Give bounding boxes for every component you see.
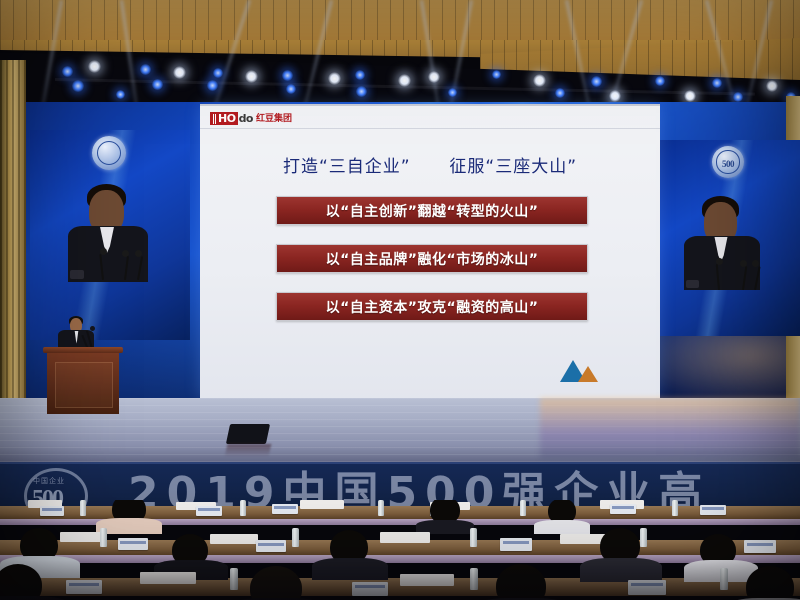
slide-bullet-text-1: 以“自主创新”翻越“转型的火山” [326,201,539,221]
slide-bullet-text-3: 以“自主资本”攻克“融资的高山” [326,297,539,317]
name-card [118,538,148,550]
name-card [700,505,726,515]
name-card [196,506,222,516]
podium-front-panel [55,362,113,408]
name-card [610,504,636,514]
water-bottle [292,528,299,547]
water-bottle [100,528,107,547]
slide-bullet-text-2: 以“自主品牌”融化“市场的冰山” [326,249,539,269]
podium-microphone-head-icon [90,326,95,331]
stage-monitor-speaker [226,424,270,444]
hodo-logo-bars-icon [213,114,217,124]
hodo-logo: HO do 红豆集团 [210,112,292,125]
banner-emblem-top-text: 中国企业 [33,476,65,486]
floor-reflection [540,398,800,458]
slide-decoration-pyramids [560,356,606,382]
slide-header-divider [200,128,660,129]
slide-title-left: 打造“三自企业” [283,157,411,177]
name-card [256,540,286,552]
hodo-logo-chinese: 红豆集团 [256,113,292,125]
water-bottle [240,500,246,516]
ceiling-wood-panels [0,0,800,42]
water-bottle [470,528,477,547]
water-bottle [520,500,526,516]
slide-bullet-bar-1: 以“自主创新”翻越“转型的火山” [276,196,588,225]
hodo-logo-ho: HO [218,113,236,125]
document-paper [380,532,430,543]
stage-monitor-reflection [225,444,272,457]
hodo-logo-do: do [239,113,253,125]
right-emblem-text: 500 [712,159,744,169]
water-bottle [378,500,384,516]
name-card [40,506,64,516]
slide-top-rule [200,104,660,106]
hodo-logo-mark: HO [210,112,238,125]
cec-emblem-icon [92,136,126,170]
podium-top-ledge [43,347,123,353]
slide-bullet-bar-3: 以“自主资本”攻克“融资的高山” [276,292,588,321]
water-bottle [672,500,678,516]
name-card [744,540,776,553]
water-bottle [80,500,86,516]
slide-title: 打造“三自企业” 征服“三座大山” [200,152,660,177]
orange-pyramid-icon [578,366,598,382]
banner-top-edge [0,462,800,464]
water-bottle [640,528,647,547]
document-paper [210,534,258,544]
name-card [272,504,298,514]
slide-bullet-list: 以“自主创新”翻越“转型的火山” 以“自主品牌”融化“市场的冰山” 以“自主资本… [276,196,588,340]
presentation-slide: HO do 红豆集团 打造“三自企业” 征服“三座大山” 以“自主创新”翻越“转… [200,104,660,400]
right-projection-screen: 500 [660,140,800,336]
name-card [500,538,532,551]
audience-area [0,500,800,600]
left-projection-screen [30,130,190,340]
slide-title-right: 征服“三座大山” [449,157,577,177]
document-paper [300,500,344,509]
foreground-shadow [0,560,800,600]
conference-hall-scene: 500 HO do 红豆集团 打造“三自企业 [0,0,800,600]
top500-emblem-icon: 500 [712,146,744,178]
wooden-podium [47,352,119,414]
slide-bullet-bar-2: 以“自主品牌”融化“市场的冰山” [276,244,588,273]
